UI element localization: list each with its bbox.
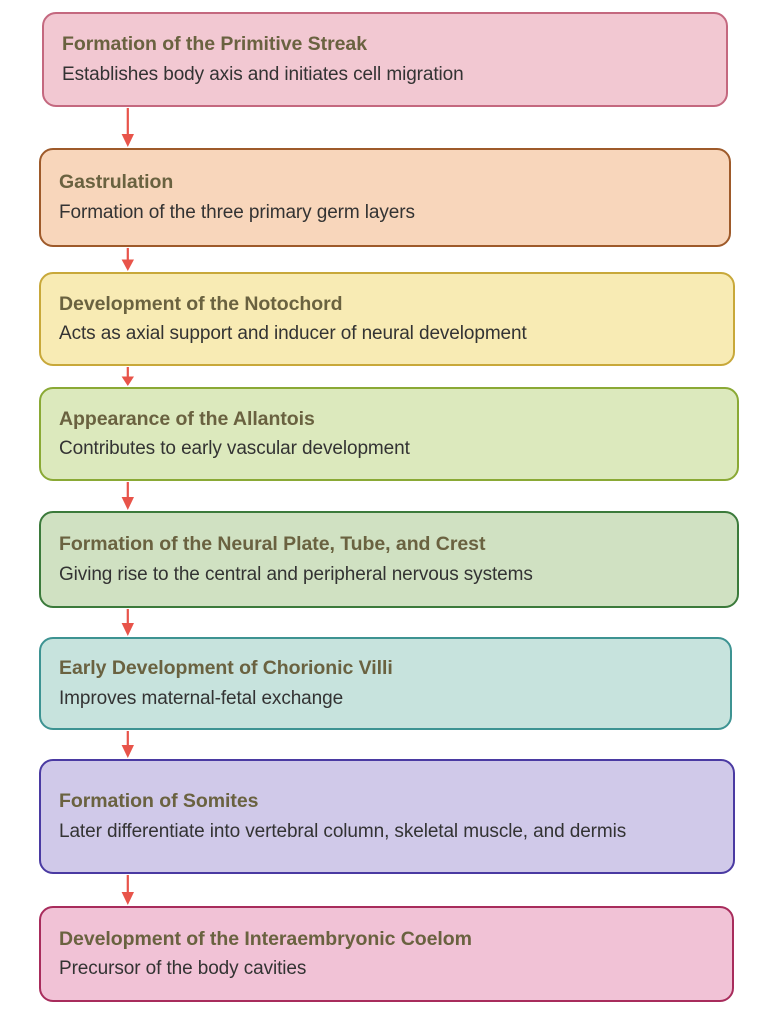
stage-title-allantois: Appearance of the Allantois [59,408,721,432]
stage-title-chorionic-villi: Early Development of Chorionic Villi [59,657,714,681]
stage-title-neural-plate: Formation of the Neural Plate, Tube, and… [59,533,721,557]
stage-description-primitive-streak: Establishes body axis and initiates cell… [62,63,710,87]
arrow-down-icon [119,482,137,510]
stage-box-somites[interactable]: Formation of SomitesLater differentiate … [39,759,735,874]
flow-connector-6 [119,731,137,758]
stage-title-notochord: Development of the Notochord [59,293,717,317]
arrow-down-icon [119,108,137,147]
flow-connector-5 [119,609,137,636]
arrow-down-icon [119,248,137,271]
stage-title-somites: Formation of Somites [59,790,717,814]
stage-box-interaembryonic-coelom[interactable]: Development of the Interaembryonic Coelo… [39,906,734,1002]
arrow-down-icon [119,609,137,636]
stage-box-gastrulation[interactable]: GastrulationFormation of the three prima… [39,148,731,247]
flow-connector-2 [119,248,137,271]
stage-box-allantois[interactable]: Appearance of the AllantoisContributes t… [39,387,739,481]
stage-description-notochord: Acts as axial support and inducer of neu… [59,322,717,346]
flow-connector-3 [119,367,137,386]
stage-box-notochord[interactable]: Development of the NotochordActs as axia… [39,272,735,366]
stage-title-interaembryonic-coelom: Development of the Interaembryonic Coelo… [59,928,716,952]
stage-description-interaembryonic-coelom: Precursor of the body cavities [59,957,716,981]
arrow-down-icon [119,875,137,905]
arrow-down-icon [119,367,137,386]
stage-box-neural-plate[interactable]: Formation of the Neural Plate, Tube, and… [39,511,739,608]
stage-description-somites: Later differentiate into vertebral colum… [59,820,717,844]
stage-description-gastrulation: Formation of the three primary germ laye… [59,201,713,225]
flow-connector-7 [119,875,137,905]
flowchart-canvas: Formation of the Primitive StreakEstabli… [0,0,772,1024]
stage-description-neural-plate: Giving rise to the central and periphera… [59,563,721,587]
flow-connector-1 [119,108,137,147]
stage-title-primitive-streak: Formation of the Primitive Streak [62,33,710,57]
flow-connector-4 [119,482,137,510]
stage-box-primitive-streak[interactable]: Formation of the Primitive StreakEstabli… [42,12,728,107]
stage-description-chorionic-villi: Improves maternal-fetal exchange [59,687,714,711]
stage-description-allantois: Contributes to early vascular developmen… [59,437,721,461]
arrow-down-icon [119,731,137,758]
stage-title-gastrulation: Gastrulation [59,171,713,195]
stage-box-chorionic-villi[interactable]: Early Development of Chorionic VilliImpr… [39,637,732,730]
